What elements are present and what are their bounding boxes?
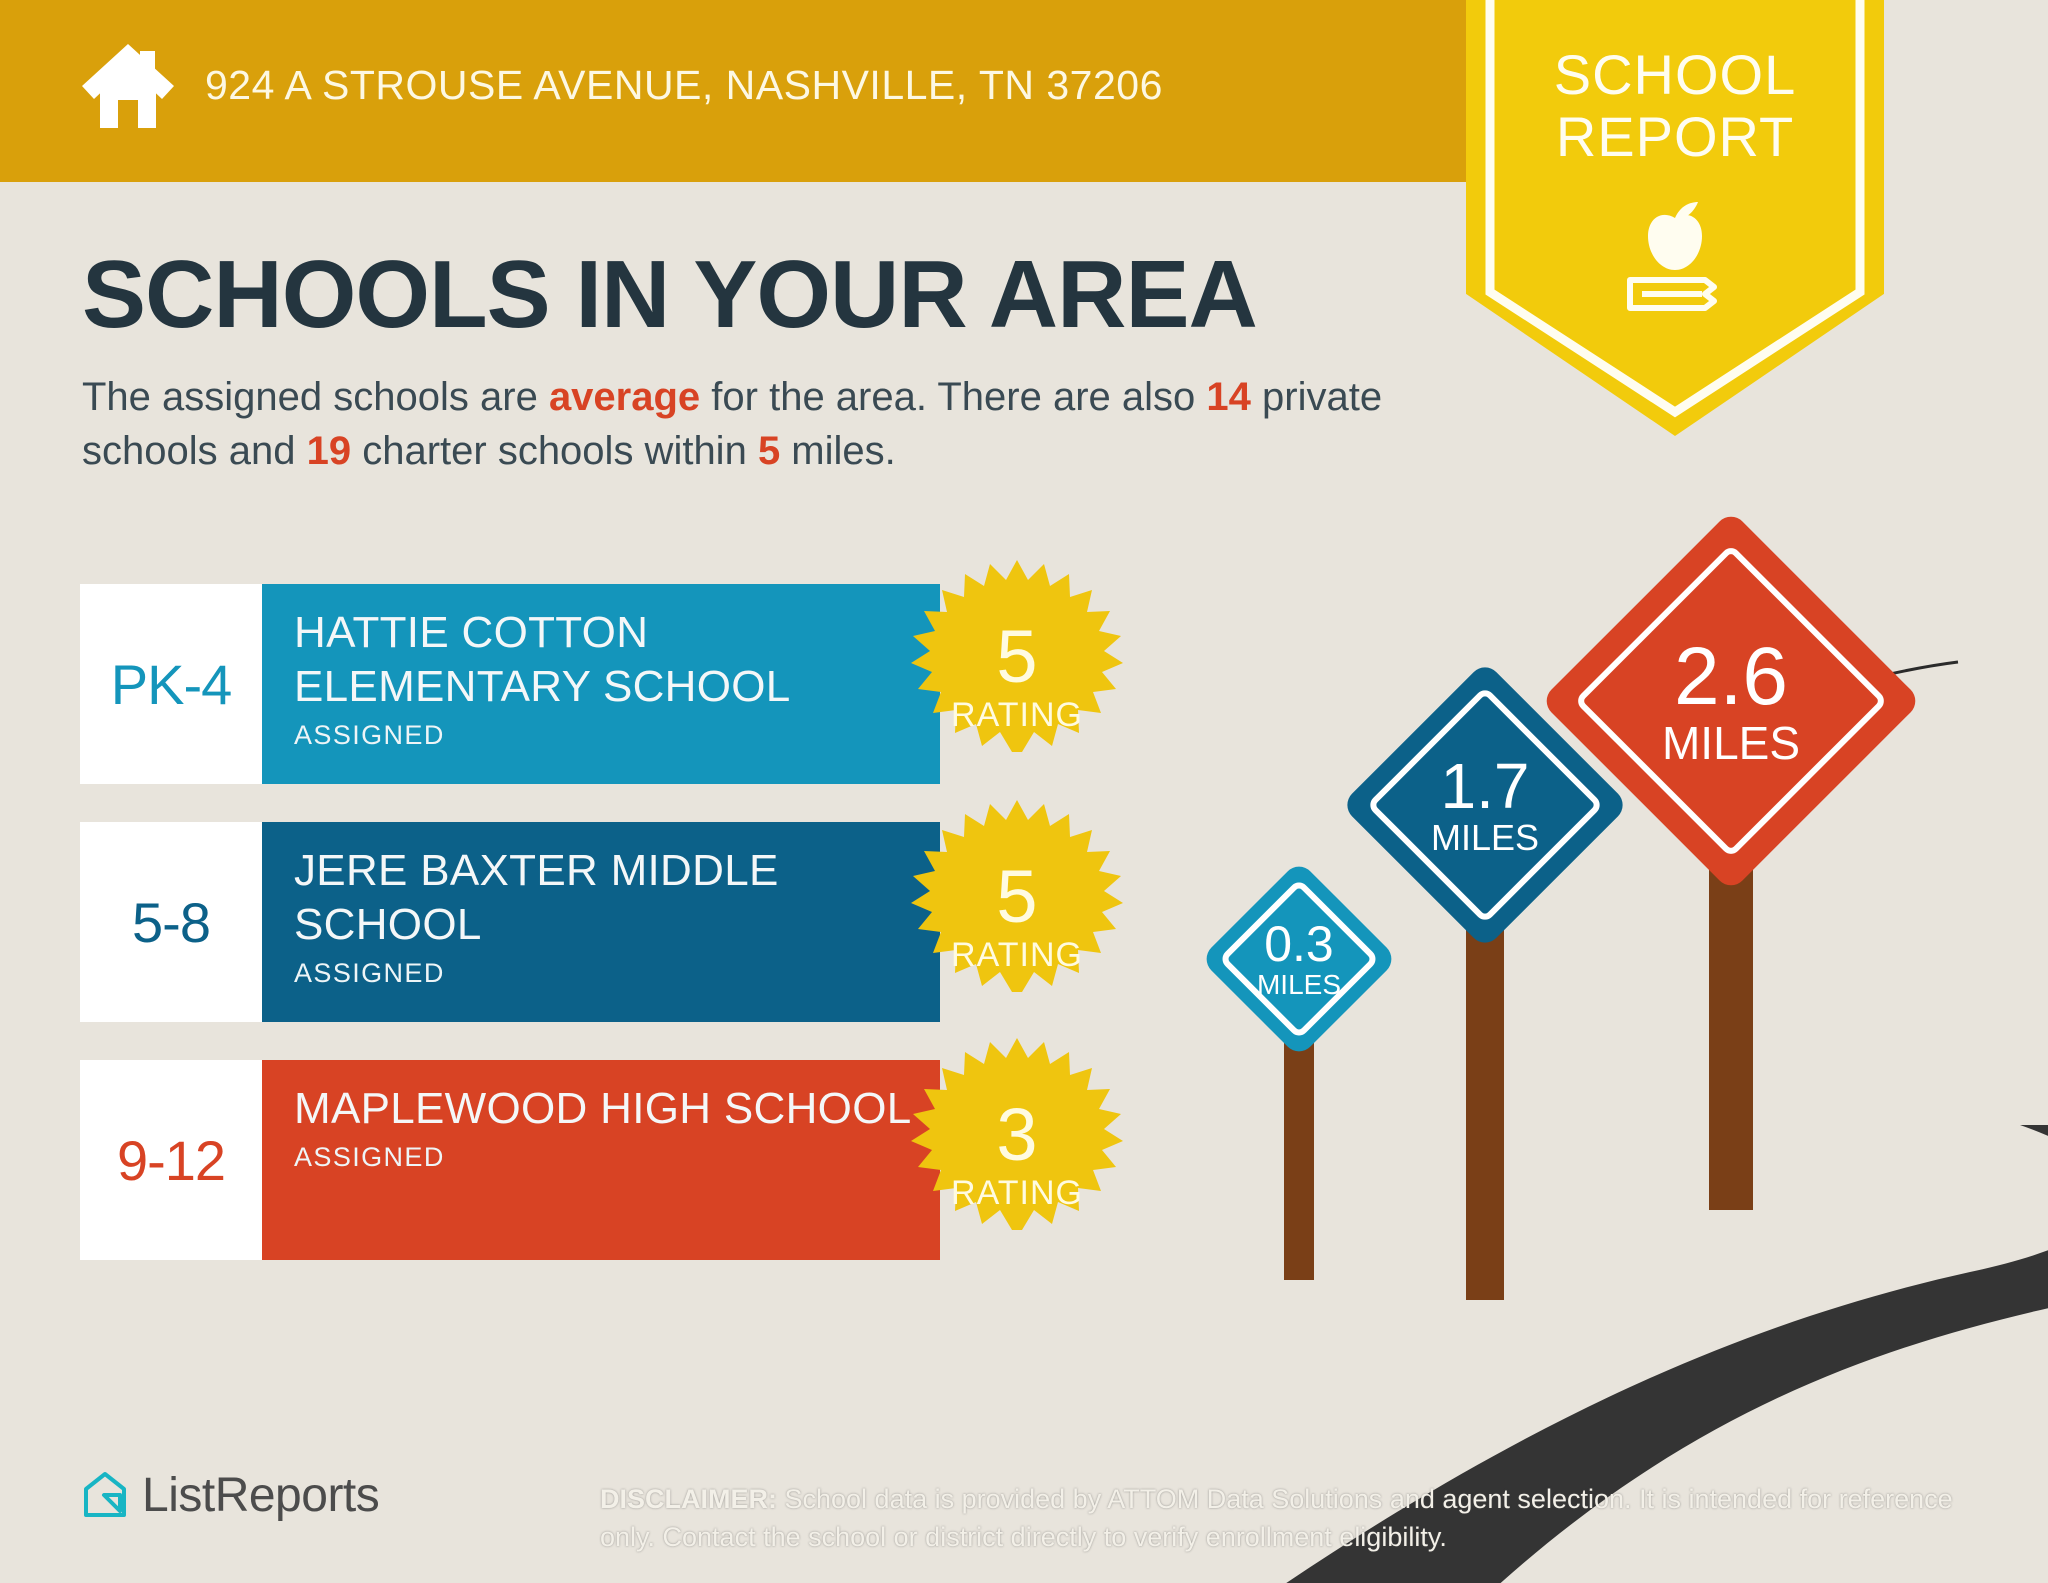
- sign-distance-unit: MILES: [1431, 819, 1539, 857]
- sign-distance-unit: MILES: [1662, 719, 1800, 767]
- page-subtitle: The assigned schools are average for the…: [82, 370, 1482, 478]
- rating-text-group: 5 RATING: [898, 798, 1136, 1036]
- header-band: 924 A STROUSE AVENUE, NASHVILLE, TN 3720…: [0, 0, 1478, 182]
- sign-distance-value: 1.7: [1441, 753, 1530, 819]
- school-status: ASSIGNED: [294, 958, 940, 989]
- home-icon: [78, 38, 178, 130]
- badge-title-line1: SCHOOL: [1466, 44, 1884, 106]
- disclaimer-body: School data is provided by ATTOM Data So…: [600, 1484, 1953, 1552]
- property-address: 924 A STROUSE AVENUE, NASHVILLE, TN 3720…: [205, 62, 1163, 109]
- rating-value: 3: [996, 1098, 1037, 1172]
- school-report-badge: SCHOOL REPORT: [1466, 0, 1884, 436]
- sign-distance-unit: MILES: [1257, 970, 1341, 1000]
- subtitle-highlight-average: average: [549, 375, 700, 419]
- grade-range-label: 9-12: [117, 1128, 225, 1193]
- badge-title: SCHOOL REPORT: [1466, 44, 1884, 168]
- subtitle-text-4: charter schools within: [351, 429, 758, 473]
- rating-starburst: 5 RATING: [898, 558, 1136, 796]
- grade-range-box: 9-12: [80, 1060, 262, 1260]
- grade-range-box: 5-8: [80, 822, 262, 1022]
- school-bar: JERE BAXTER MIDDLE SCHOOL ASSIGNED: [262, 822, 940, 1022]
- school-bar: HATTIE COTTON ELEMENTARY SCHOOL ASSIGNED: [262, 584, 940, 784]
- disclaimer-label: DISCLAIMER:: [600, 1484, 777, 1514]
- page-title: SCHOOLS IN YOUR AREA: [82, 245, 1257, 345]
- distance-sign[interactable]: 2.6 MILES: [1540, 510, 1922, 1210]
- rating-starburst: 5 RATING: [898, 798, 1136, 1036]
- road-illustration: 0.3 MILES 1.7 MILES 2.6 MILES: [1200, 620, 2048, 1583]
- school-name: JERE BAXTER MIDDLE SCHOOL: [294, 844, 940, 952]
- apple-on-book-icon: [1610, 188, 1740, 318]
- rating-starburst: 3 RATING: [898, 1036, 1136, 1274]
- subtitle-highlight-charter-count: 19: [307, 429, 352, 473]
- badge-title-line2: REPORT: [1466, 106, 1884, 168]
- school-status: ASSIGNED: [294, 720, 940, 751]
- rating-label: RATING: [951, 696, 1083, 735]
- subtitle-highlight-private-count: 14: [1206, 375, 1251, 419]
- house-pin-icon: [82, 1471, 128, 1521]
- infographic-page: 924 A STROUSE AVENUE, NASHVILLE, TN 3720…: [0, 0, 2048, 1583]
- sign-distance-value: 2.6: [1674, 635, 1788, 719]
- grade-range-label: PK-4: [111, 652, 232, 717]
- school-name: MAPLEWOOD HIGH SCHOOL: [294, 1082, 940, 1136]
- disclaimer-text: DISCLAIMER: School data is provided by A…: [600, 1480, 2000, 1556]
- sign-distance-value: 0.3: [1264, 918, 1334, 970]
- grade-range-label: 5-8: [132, 890, 210, 955]
- school-status: ASSIGNED: [294, 1142, 940, 1173]
- rating-text-group: 5 RATING: [898, 558, 1136, 796]
- grade-range-box: PK-4: [80, 584, 262, 784]
- subtitle-text-1: The assigned schools are: [82, 375, 549, 419]
- school-bar: MAPLEWOOD HIGH SCHOOL ASSIGNED: [262, 1060, 940, 1260]
- rating-label: RATING: [951, 936, 1083, 975]
- subtitle-text-2: for the area. There are also: [700, 375, 1206, 419]
- rating-value: 5: [996, 620, 1037, 694]
- listreports-logo[interactable]: ListReports: [82, 1468, 379, 1523]
- subtitle-text-5: miles.: [780, 429, 896, 473]
- sign-text-group: 2.6 MILES: [1540, 510, 1922, 892]
- subtitle-highlight-radius: 5: [758, 429, 780, 473]
- rating-value: 5: [996, 860, 1037, 934]
- rating-text-group: 3 RATING: [898, 1036, 1136, 1274]
- school-name: HATTIE COTTON ELEMENTARY SCHOOL: [294, 606, 940, 714]
- rating-label: RATING: [951, 1174, 1083, 1213]
- logo-wordmark: ListReports: [142, 1468, 379, 1523]
